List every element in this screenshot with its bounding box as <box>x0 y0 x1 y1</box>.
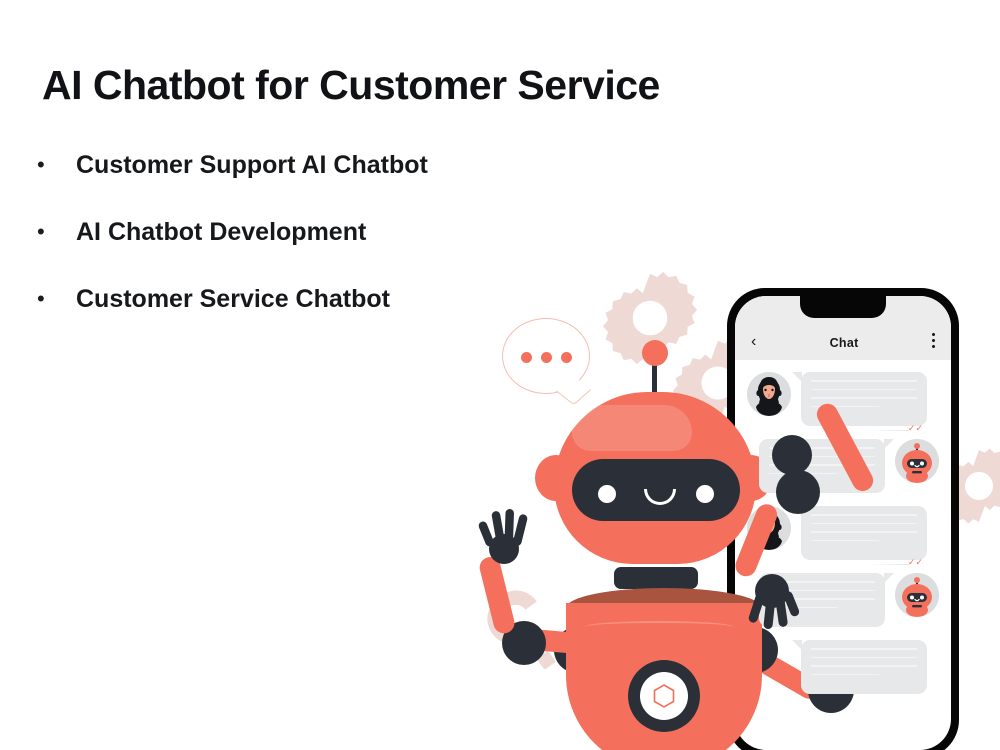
message-bubble: ✓✓ <box>801 372 927 426</box>
chat-message: ✓✓ <box>747 372 939 426</box>
phone-screen: ‹ Chat <box>735 296 951 750</box>
message-bubble <box>759 573 885 627</box>
robot-smile <box>644 489 676 505</box>
robot-antenna-ball <box>642 340 668 366</box>
chatbot-illustration: ‹ Chat <box>460 255 1000 750</box>
robot-visor <box>572 459 740 521</box>
list-item: • Customer Support AI Chatbot <box>30 150 630 217</box>
support-agent-avatar <box>747 506 791 550</box>
robot-body-highlight <box>584 621 734 633</box>
chat-message-list[interactable]: ✓✓ <box>735 360 951 694</box>
bullet-text: Customer Service Chatbot <box>76 284 390 314</box>
kebab-dot <box>932 345 935 348</box>
bullet-marker-icon: • <box>30 284 76 314</box>
robot-avatar <box>895 439 939 483</box>
read-underline <box>867 564 909 565</box>
message-text-lines <box>769 447 875 485</box>
robot-head <box>554 392 756 564</box>
chat-message: ✓✓ <box>747 506 939 560</box>
bullet-marker-icon: • <box>30 150 76 180</box>
bullet-text: Customer Support AI Chatbot <box>76 150 428 180</box>
phone-mockup: ‹ Chat <box>727 288 959 750</box>
bullet-marker-icon: • <box>30 217 76 247</box>
robot-eye-left <box>598 485 616 503</box>
read-receipt-icon: ✓✓ <box>908 424 923 433</box>
page-title: AI Chatbot for Customer Service <box>42 62 660 109</box>
message-text-lines <box>811 648 917 686</box>
chat-title: Chat <box>830 336 859 350</box>
kebab-dot <box>932 333 935 336</box>
waving-hand-icon <box>474 505 536 567</box>
kebab-menu-icon[interactable] <box>932 333 935 352</box>
message-bubble <box>801 640 927 694</box>
read-underline <box>867 430 909 431</box>
chat-message <box>747 640 939 694</box>
message-bubble <box>759 439 885 493</box>
slide-canvas: AI Chatbot for Customer Service • Custom… <box>0 0 1000 750</box>
robot-avatar <box>895 573 939 617</box>
message-text-lines <box>811 380 917 418</box>
bullet-text: AI Chatbot Development <box>76 217 366 247</box>
chat-message <box>747 573 939 627</box>
phone-notch <box>800 296 886 318</box>
hexagon-emblem-icon <box>651 683 677 709</box>
message-text-lines <box>769 581 875 619</box>
kebab-dot <box>932 339 935 342</box>
robot-neck <box>614 567 698 589</box>
robot-head-highlight <box>572 405 692 451</box>
read-receipt-icon: ✓✓ <box>908 558 923 567</box>
chat-title-wrap: Chat <box>756 334 931 352</box>
chat-message <box>747 439 939 493</box>
message-text-lines <box>811 514 917 552</box>
support-agent-avatar <box>747 372 791 416</box>
message-bubble: ✓✓ <box>801 506 927 560</box>
robot-eye-right <box>696 485 714 503</box>
